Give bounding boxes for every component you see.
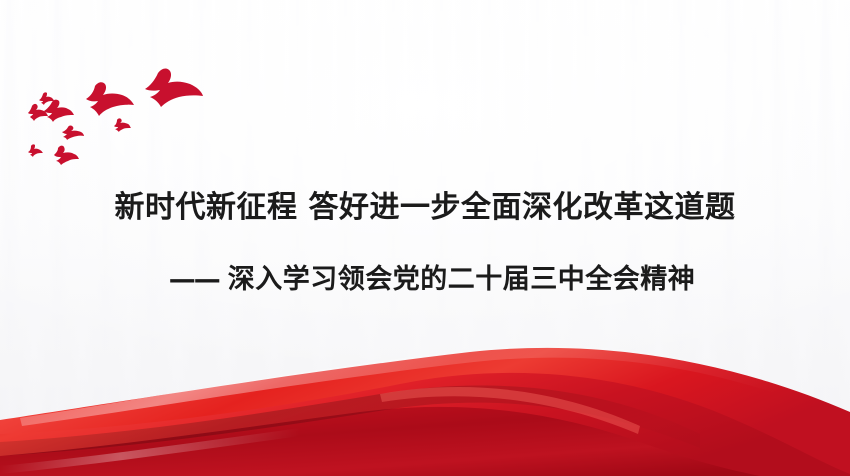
red-silk-ribbon-graphic — [0, 316, 850, 476]
subtitle-em-dash: —— — [169, 264, 219, 295]
poster-canvas: 新时代新征程 答好进一步全面深化改革这道题 ——深入学习领会党的二十届三中全会精… — [0, 0, 850, 476]
flying-birds-flock-icon — [18, 60, 218, 170]
subtitle-text: 深入学习领会党的二十届三中全会精神 — [228, 264, 696, 295]
headline-block: 新时代新征程 答好进一步全面深化改革这道题 ——深入学习领会党的二十届三中全会精… — [0, 186, 850, 302]
poster-main-title: 新时代新征程 答好进一步全面深化改革这道题 — [0, 186, 850, 230]
poster-subtitle: ——深入学习领会党的二十届三中全会精神 — [0, 258, 850, 302]
